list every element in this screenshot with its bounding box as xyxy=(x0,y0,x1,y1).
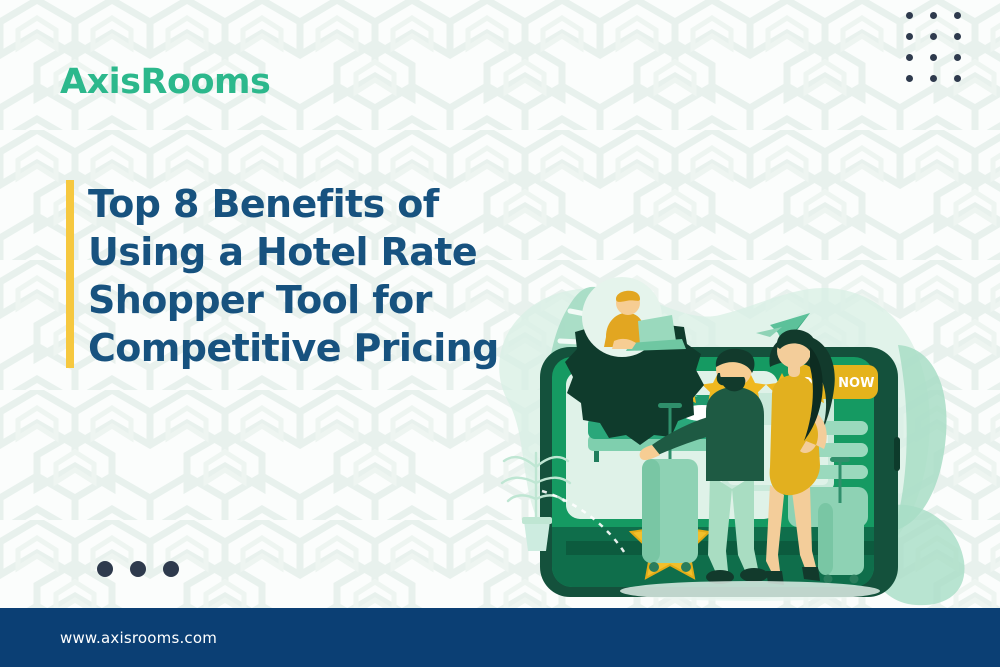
grid-dot xyxy=(930,54,937,61)
grid-dot xyxy=(906,33,913,40)
device-side-button xyxy=(894,437,900,471)
grid-dot xyxy=(954,33,961,40)
dot-grid-decoration xyxy=(906,12,978,96)
grid-dot xyxy=(930,75,937,82)
grid-dot xyxy=(954,75,961,82)
accent-bar xyxy=(66,180,74,368)
grid-dot xyxy=(930,33,937,40)
ground-shadow xyxy=(620,581,880,601)
footer-bar: www.axisrooms.com xyxy=(0,608,1000,667)
bottom-dot xyxy=(130,561,146,577)
grid-dot xyxy=(906,75,913,82)
page-title: Top 8 Benefits of Using a Hotel Rate Sho… xyxy=(88,180,558,372)
poster-canvas: AxisRooms Top 8 Benefits of Using a Hote… xyxy=(0,0,1000,667)
grid-dot xyxy=(906,54,913,61)
bottom-dot xyxy=(163,561,179,577)
grid-dot xyxy=(954,54,961,61)
grid-dot xyxy=(954,12,961,19)
brand-logo: AxisRooms xyxy=(60,62,270,102)
grid-dot xyxy=(930,12,937,19)
footer-url[interactable]: www.axisrooms.com xyxy=(60,629,217,647)
grid-dot xyxy=(906,12,913,19)
bottom-dot xyxy=(97,561,113,577)
three-dots-decoration xyxy=(97,561,179,577)
